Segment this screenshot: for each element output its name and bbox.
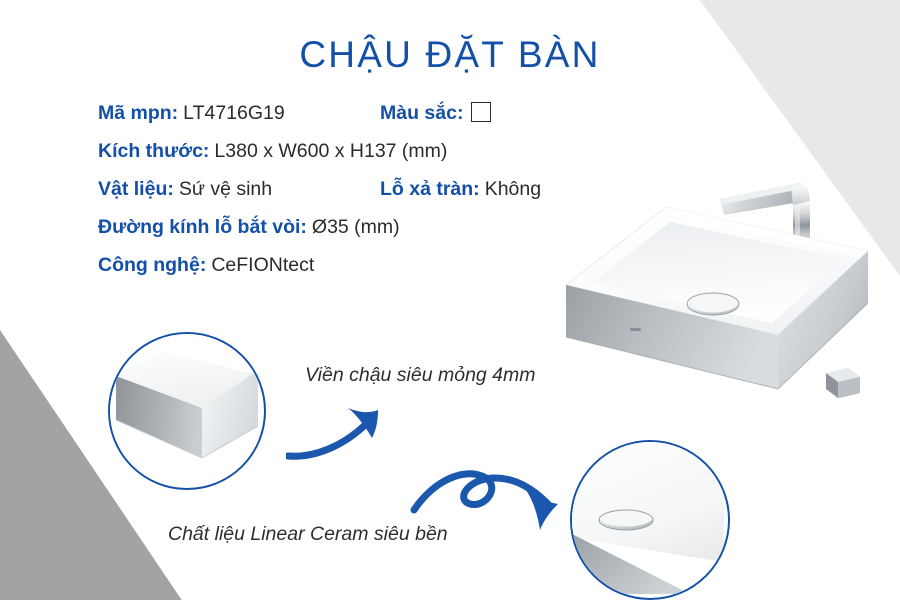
- spec-value: LT4716G19: [183, 102, 285, 124]
- spec-value: Sứ vệ sinh: [179, 178, 272, 200]
- spec-item-tap-hole: Đường kính lỗ bắt vòi:Ø35 (mm): [98, 216, 400, 239]
- spec-item-overflow: Lỗ xả tràn:Không: [380, 178, 541, 201]
- product-image: [548, 155, 900, 425]
- page-title: CHẬU ĐẶT BÀN: [0, 34, 900, 76]
- spec-row: Công nghệ:CeFIONtect: [98, 254, 618, 292]
- spec-value: L380 x W600 x H137 (mm): [214, 140, 447, 162]
- spec-row: Kích thước:L380 x W600 x H137 (mm): [98, 140, 618, 178]
- spec-list: Mã mpn:LT4716G19 Màu sắc: Kích thước:L38…: [98, 102, 618, 292]
- spec-item-technology: Công nghệ:CeFIONtect: [98, 254, 314, 277]
- spec-value: CeFIONtect: [211, 254, 314, 276]
- detail-callout-rim: [108, 332, 266, 490]
- spec-label: Đường kính lỗ bắt vòi:: [98, 216, 307, 238]
- color-swatch: [471, 102, 491, 122]
- spec-label: Công nghệ:: [98, 254, 206, 276]
- faucet-handle: [826, 368, 860, 398]
- spec-label: Vật liệu:: [98, 178, 174, 200]
- infographic-canvas: CHẬU ĐẶT BÀN Mã mpn:LT4716G19 Màu sắc: K…: [0, 0, 900, 600]
- spec-label: Kích thước:: [98, 140, 209, 162]
- spec-row: Vật liệu:Sứ vệ sinh Lỗ xả tràn:Không: [98, 178, 618, 216]
- spec-row: Đường kính lỗ bắt vòi:Ø35 (mm): [98, 216, 618, 254]
- spec-label: Lỗ xả tràn:: [380, 178, 480, 200]
- detail-callout-drain: [570, 440, 730, 600]
- spec-item-dimensions: Kích thước:L380 x W600 x H137 (mm): [98, 140, 447, 163]
- callout-label-material: Chất liệu Linear Ceram siêu bền: [168, 523, 448, 546]
- spec-label: Mã mpn:: [98, 102, 178, 124]
- spec-item-material: Vật liệu:Sứ vệ sinh: [98, 178, 272, 201]
- spec-value: Ø35 (mm): [312, 216, 400, 238]
- spec-label: Màu sắc:: [380, 102, 463, 124]
- spec-item-color: Màu sắc:: [380, 102, 491, 125]
- spec-row: Mã mpn:LT4716G19 Màu sắc:: [98, 102, 618, 140]
- callout-label-rim: Viền chậu siêu mỏng 4mm: [305, 364, 536, 387]
- curved-arrow-up-right-icon: [286, 382, 416, 462]
- spec-item-mpn: Mã mpn:LT4716G19: [98, 102, 285, 125]
- spec-value: Không: [485, 178, 541, 200]
